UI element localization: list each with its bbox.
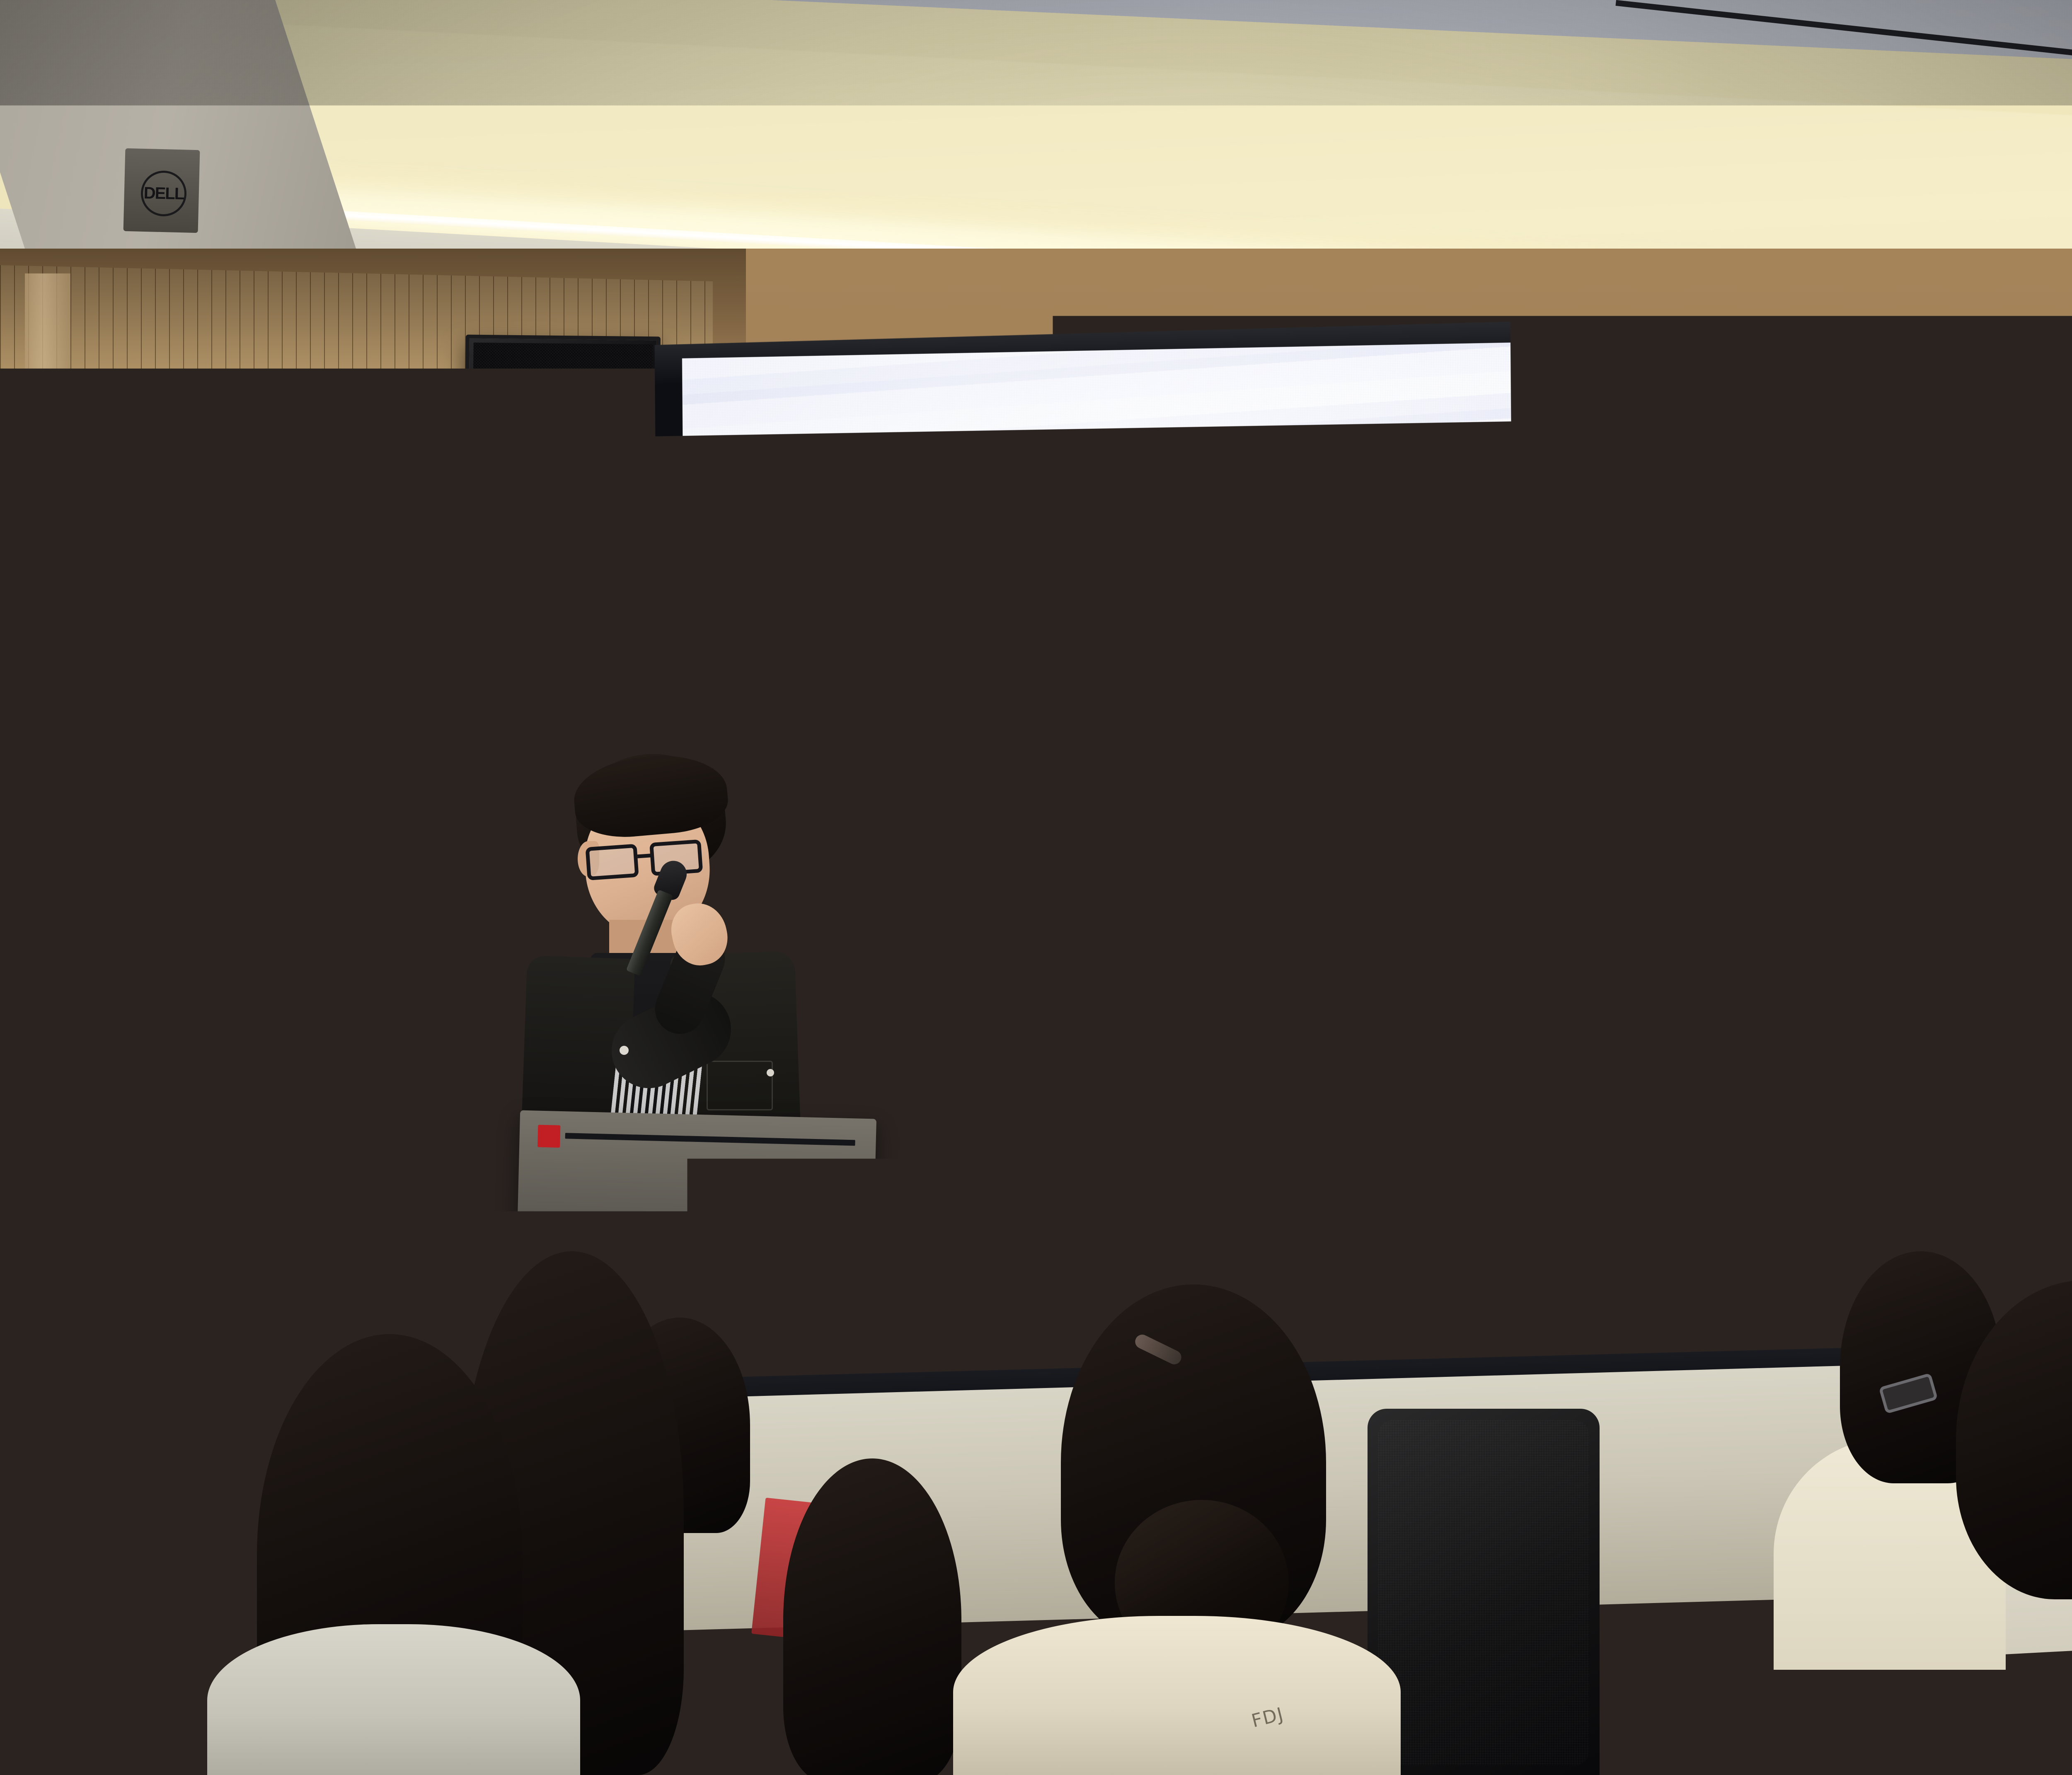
audience-center-hoodie: [953, 1616, 1401, 1775]
blazer-button: [1027, 1197, 1034, 1204]
monitor-vent-slot: [565, 1133, 855, 1146]
chair-mesh-back: [1378, 1420, 1589, 1765]
shirt-button: [1023, 1057, 1029, 1063]
blazer-button: [1027, 1152, 1034, 1158]
slide-headline-row: “Agility”: [684, 527, 2072, 677]
presenter-left-pocket-button: [767, 1069, 774, 1076]
presenter-center-shoe-left: [970, 1523, 1034, 1558]
audience-left-mid: [783, 1458, 961, 1775]
air-conditioner-logo-icon: [104, 1155, 182, 1198]
slide-subline: “Backcasting”: [1172, 907, 1923, 1031]
air-conditioner-side: [313, 866, 330, 1376]
speaker-mount-bracket: [477, 651, 555, 675]
presenter-center-fringe: [964, 863, 1085, 928]
presenter-center-jeans-seam: [1027, 1347, 1032, 1541]
air-conditioner-vents: [89, 873, 296, 1017]
shirt-button: [1023, 1094, 1029, 1100]
slide-headline: “Agility”: [1223, 532, 1864, 675]
presenter-left-cuff-button: [620, 1046, 629, 1055]
wall-speaker: JBL: [462, 335, 661, 652]
shirt-button: [1023, 1168, 1029, 1175]
shirt-button: [1023, 1206, 1029, 1212]
energy-label-sticker: AC: [234, 1031, 271, 1054]
monitor-asset-sticker: [537, 1125, 560, 1148]
plus-icon: [1536, 755, 1588, 807]
shirt-button: [1023, 1131, 1029, 1137]
presenter-left-chest-pocket: [707, 1061, 773, 1110]
air-conditioner-control-panel[interactable]: [124, 1072, 265, 1095]
conference-room-scene: JBL “Agility” “Backcasting”: [0, 0, 2072, 1775]
chair-center[interactable]: [1368, 1409, 1600, 1775]
audience-left-hoodie: [207, 1624, 580, 1775]
speaker-grille-icon: [470, 343, 653, 643]
speaker-brand-badge: JBL: [546, 619, 574, 636]
air-conditioner-display: [176, 1076, 213, 1091]
